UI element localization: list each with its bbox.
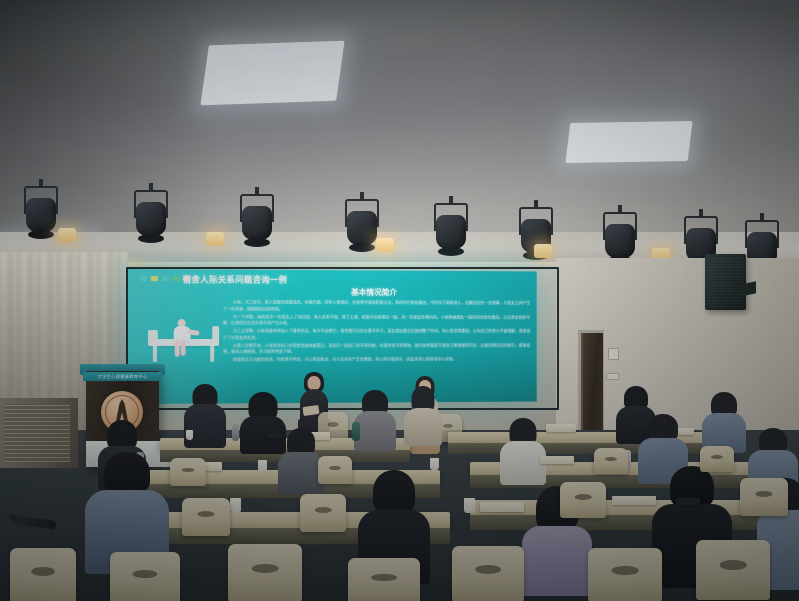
stage-spotlight: [345, 199, 379, 249]
side-entrance-door[interactable]: [581, 333, 603, 435]
ceiling-panel-light: [565, 121, 692, 163]
lectern-banner-text: 大学生心理健康教育中心: [85, 372, 160, 381]
stage-spotlight: [134, 190, 168, 240]
wall-mounted-loudspeaker: [705, 254, 746, 310]
warm-downlight: [376, 238, 394, 252]
stage-spotlight: [603, 212, 637, 262]
attendee-row1-far-right-denim: [700, 392, 748, 450]
presenter-head: [308, 376, 321, 390]
notebook: [546, 424, 576, 432]
audience-chair[interactable]: [740, 478, 788, 516]
stage-spotlight: [240, 194, 274, 244]
water-bottle: [352, 422, 360, 441]
water-bottle: [232, 424, 239, 441]
paper-cup: [430, 458, 439, 470]
attendee-torso: [522, 526, 592, 596]
audience-chair[interactable]: [182, 498, 230, 536]
lecture-hall-photo: 宿舍人际关系问题咨询一例 基本情况简介 小张，大二女生，职人班级的班委成员，性格…: [0, 0, 799, 601]
audience-chair[interactable]: [560, 482, 606, 518]
attendee-hair: [104, 452, 150, 494]
notebook: [540, 456, 574, 464]
audience-chair[interactable]: [700, 446, 734, 472]
stage-spotlight: [434, 203, 468, 253]
paper-cup: [186, 430, 193, 440]
rack-vent-grill: [4, 404, 70, 462]
paper-cup: [464, 498, 475, 513]
attendee-hair: [373, 470, 415, 514]
attendee-torso: [184, 404, 226, 448]
audience-chair[interactable]: [452, 546, 524, 601]
speaker-grill: [708, 257, 743, 307]
attendee-row2-white-coat: [498, 418, 548, 482]
audience-chair[interactable]: [696, 540, 770, 600]
ceiling-panel-light: [200, 41, 344, 106]
light-switch-panel[interactable]: [608, 348, 619, 360]
smartphone: [676, 498, 700, 505]
audience-chair[interactable]: [170, 458, 206, 486]
paper-cup: [258, 460, 267, 472]
attendee-torso: [354, 411, 396, 451]
notebook: [480, 502, 524, 512]
audience-chair[interactable]: [588, 548, 662, 601]
attendee-mid-right-beige: [402, 386, 444, 444]
attendee-torso: [404, 408, 442, 446]
warm-downlight: [534, 244, 552, 258]
audience-chair[interactable]: [228, 544, 302, 601]
warm-downlight: [58, 228, 76, 242]
audience-chair[interactable]: [300, 494, 346, 532]
audience-chair[interactable]: [318, 456, 352, 484]
audience-chair[interactable]: [10, 548, 76, 601]
paper-cup: [230, 498, 241, 513]
audience-chair[interactable]: [594, 448, 628, 474]
warm-downlight: [206, 232, 224, 246]
audience-chair[interactable]: [110, 552, 180, 601]
notebook: [612, 496, 656, 505]
light-switch-panel[interactable]: [606, 373, 619, 380]
audience-chair[interactable]: [348, 558, 420, 601]
stage-spotlight: [24, 186, 58, 236]
